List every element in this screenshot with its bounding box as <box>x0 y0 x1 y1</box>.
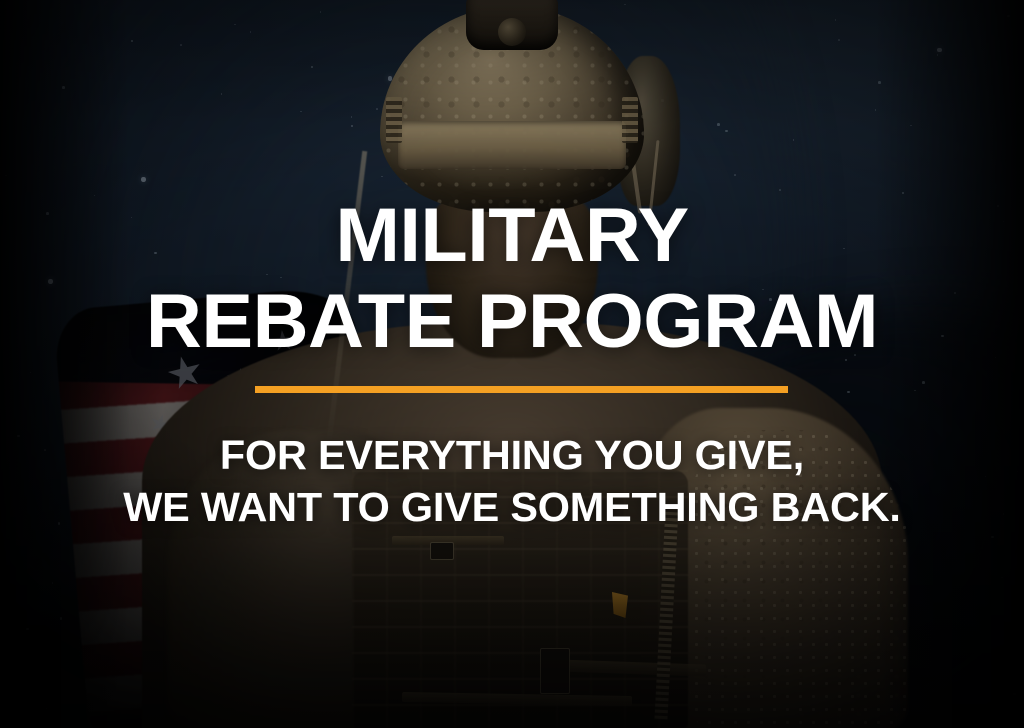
night-vision-knob <box>498 18 526 46</box>
night-vision-mount <box>466 0 558 50</box>
helmet-side-rail <box>386 97 402 143</box>
vest-buckle <box>430 542 454 560</box>
molle-webbing <box>352 470 688 728</box>
helmet-side-rail <box>622 97 638 143</box>
military-rebate-banner: MILITARY REBATE PROGRAM FOR EVERYTHING Y… <box>0 0 1024 728</box>
digital-camo-pattern <box>690 430 910 728</box>
tactical-vest <box>352 470 688 728</box>
soldier-photo <box>0 0 1024 728</box>
vest-buckle <box>540 648 570 694</box>
helmet-velcro-band <box>398 121 625 168</box>
gear-amber-tab <box>612 592 628 618</box>
